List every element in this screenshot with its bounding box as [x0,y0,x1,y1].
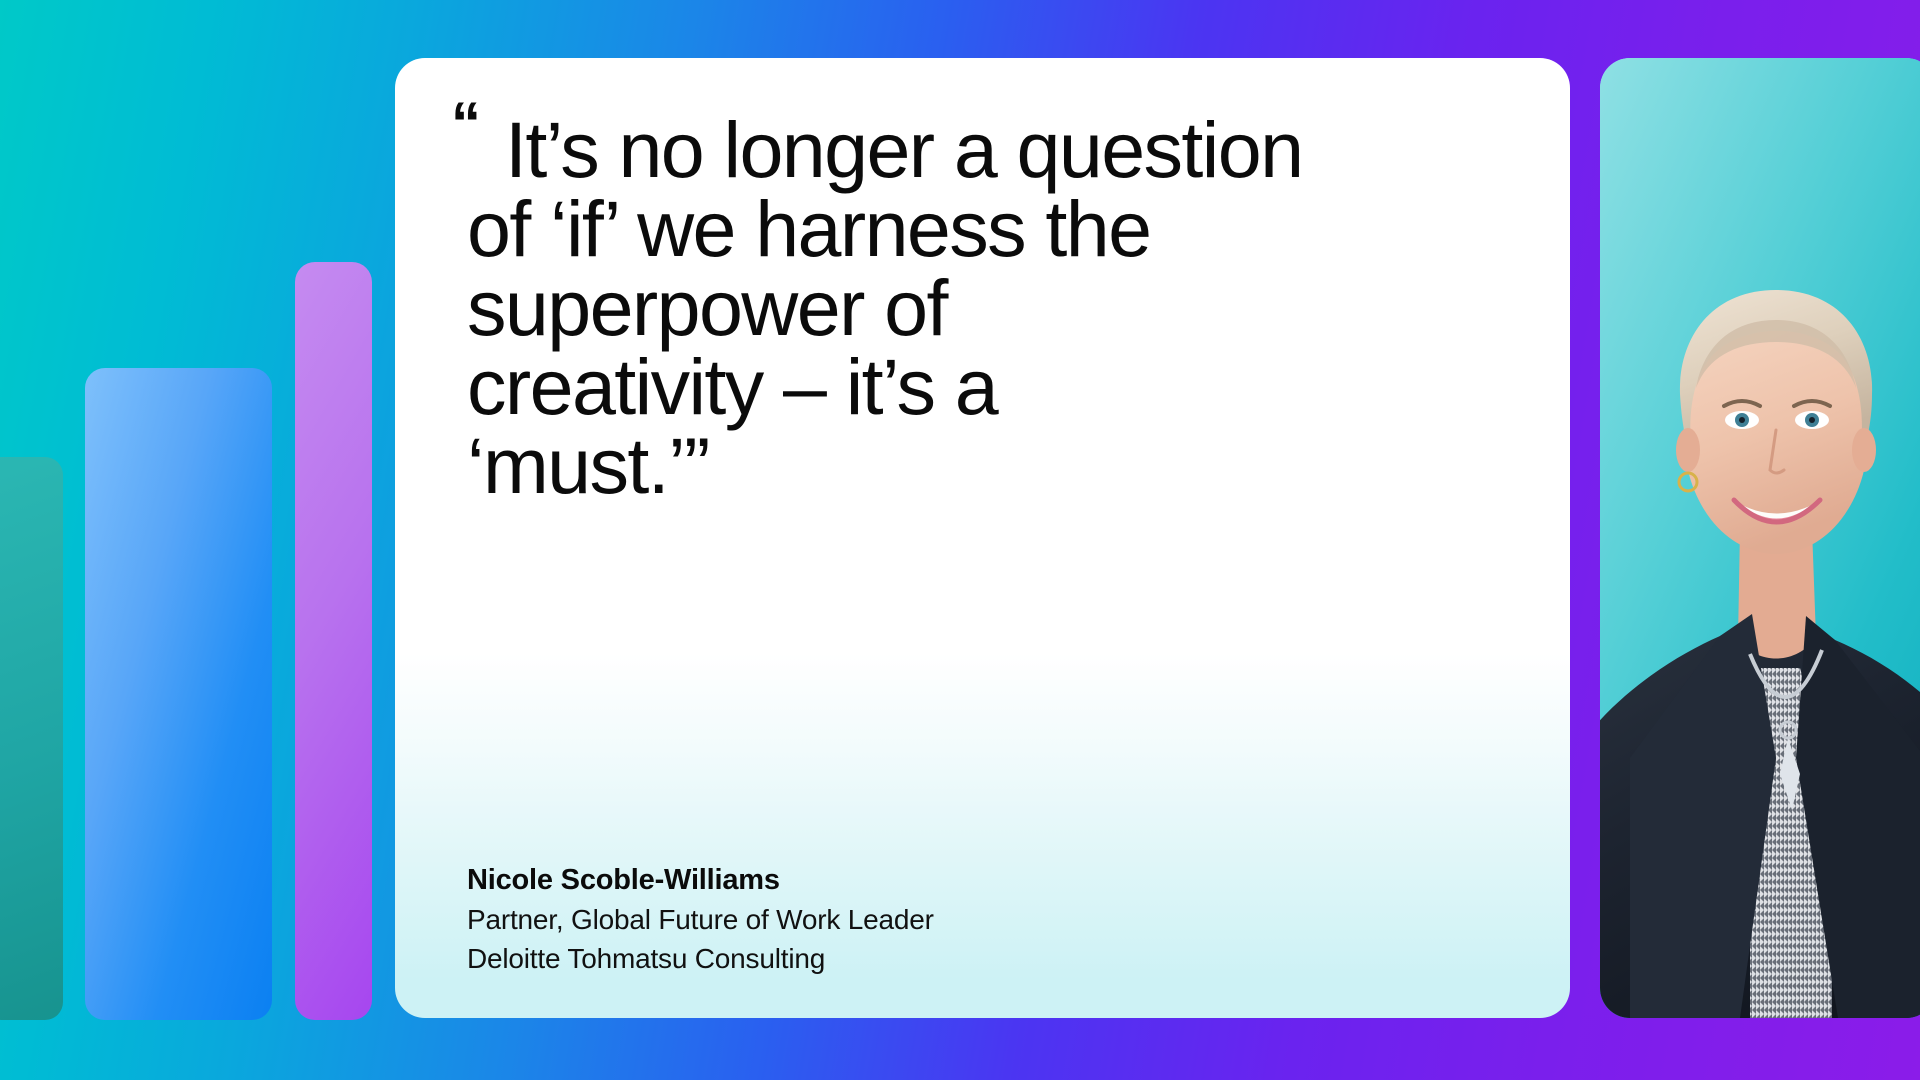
attribution-organization: Deloitte Tohmatsu Consulting [467,939,1510,978]
attribution-name: Nicole Scoble-Williams [467,860,1510,900]
portrait-image [1600,58,1920,1018]
quote-card: “ It’s no longer a question of ‘if’ we h… [395,58,1570,1018]
portrait-panel [1600,58,1920,1018]
quote-body: “ It’s no longer a question of ‘if’ we h… [467,110,1510,860]
attribution-title: Partner, Global Future of Work Leader [467,900,1510,939]
slide-canvas: “ It’s no longer a question of ‘if’ we h… [0,0,1920,1080]
bar-purple [295,262,372,1020]
decorative-bar-chart [0,0,400,1080]
attribution: Nicole Scoble-Williams Partner, Global F… [467,860,1510,978]
bar-teal [0,457,63,1020]
bar-blue [85,368,272,1020]
quote-text: It’s no longer a question of ‘if’ we har… [467,110,1467,505]
